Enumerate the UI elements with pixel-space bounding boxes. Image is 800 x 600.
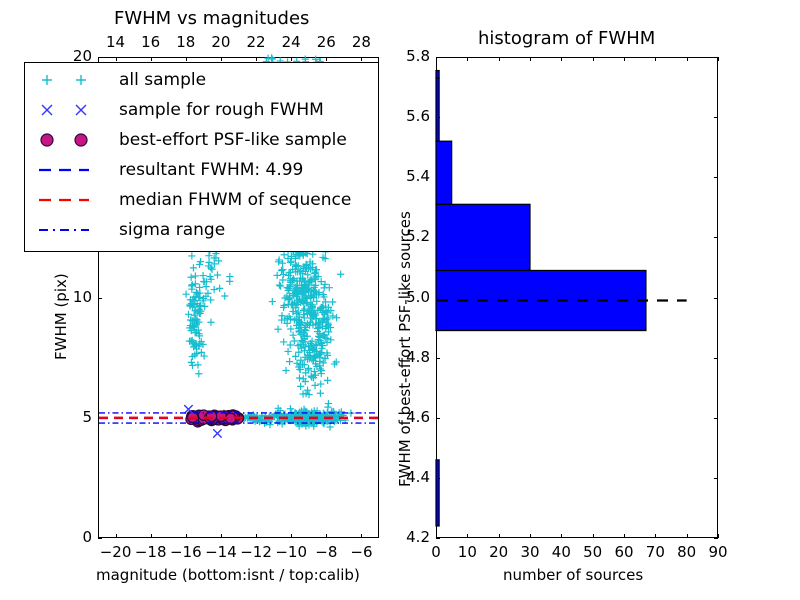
histogram-bars-layer xyxy=(0,0,800,600)
figure-canvas: FWHM vs magnitudes magnitude (bottom:isn… xyxy=(0,0,800,600)
